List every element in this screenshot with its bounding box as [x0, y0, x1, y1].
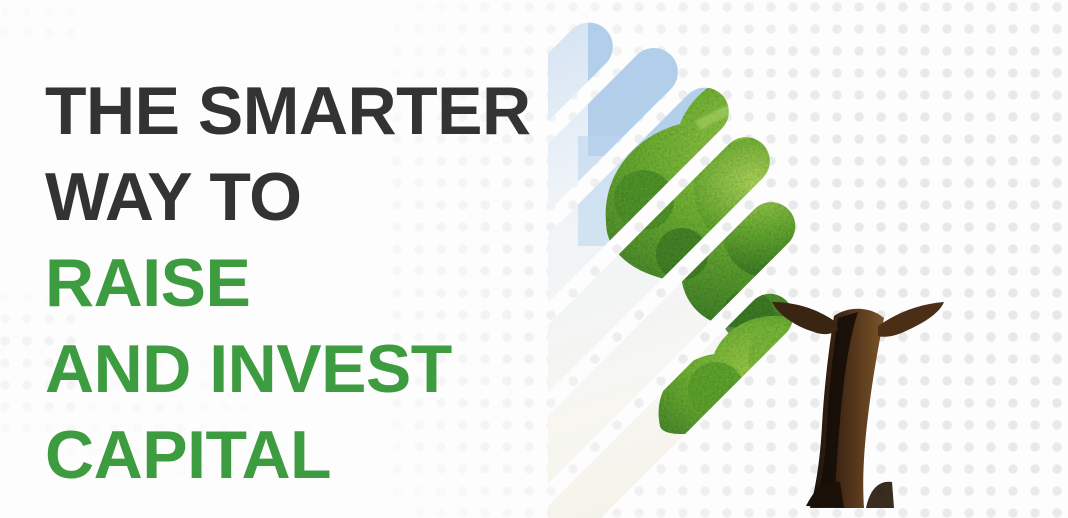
headline-line-1: THE SMARTER: [45, 68, 565, 154]
headline-line-5: CAPITAL: [45, 412, 565, 498]
headline-line-3: RAISE: [45, 240, 565, 326]
striped-photo-group: [548, 0, 1068, 518]
split-tree-illustration: [548, 0, 1068, 518]
page-title: THE SMARTER WAY TO RAISE AND INVEST CAPI…: [45, 68, 565, 498]
headline-line-4: AND INVEST: [45, 326, 565, 412]
split-tree-svg: [548, 0, 1068, 518]
headline-line-2: WAY TO: [45, 154, 565, 240]
hero-banner: THE SMARTER WAY TO RAISE AND INVEST CAPI…: [0, 0, 1068, 518]
